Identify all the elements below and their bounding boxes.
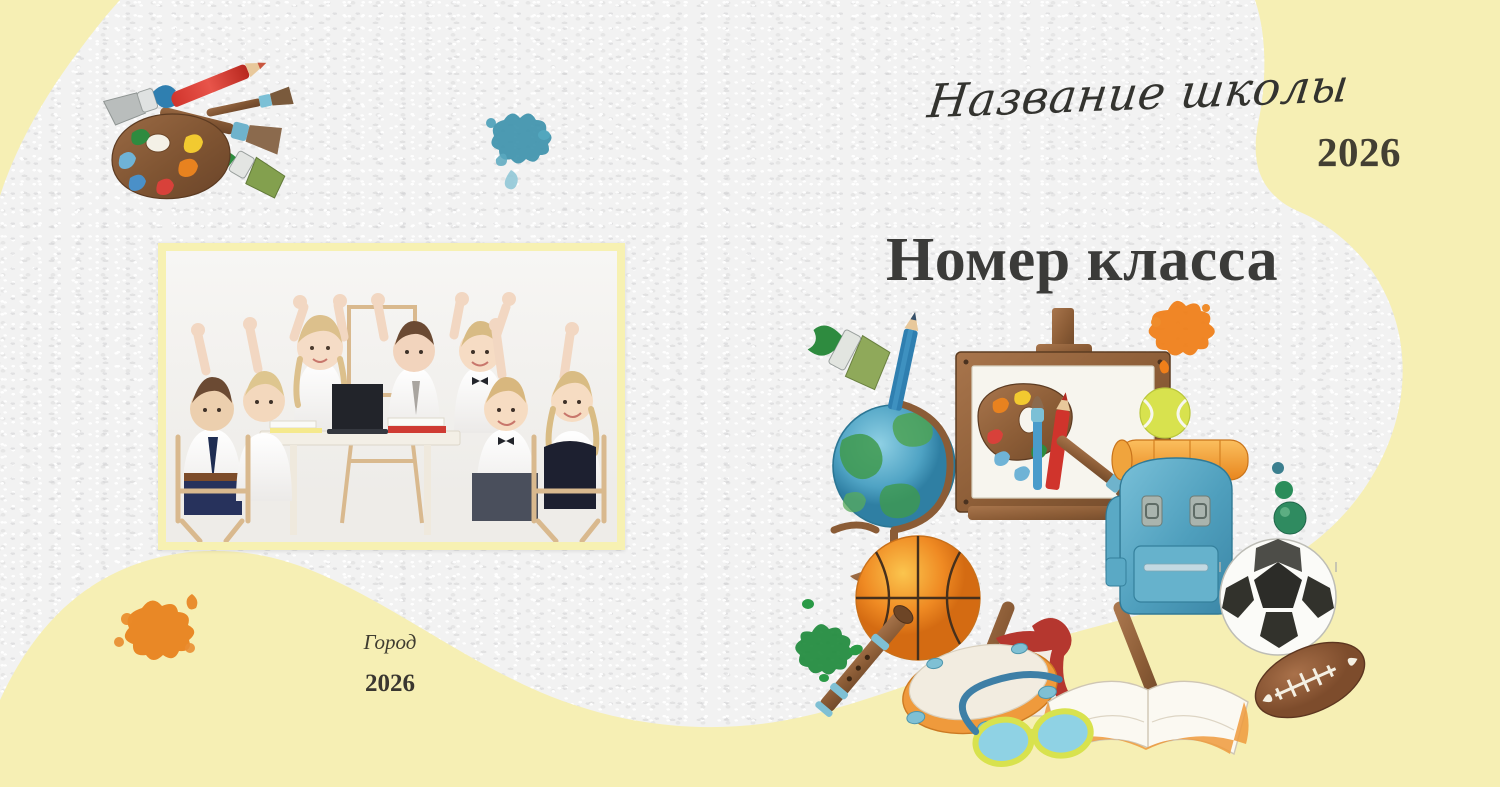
cover-canvas: Название школы 2026 Номер класса [0, 0, 1500, 787]
class-photo [166, 251, 617, 542]
blue-paint-splatter-icon [478, 106, 558, 196]
soccer-ball-icon [1220, 539, 1336, 655]
blue-pencil-icon [887, 311, 921, 412]
class-number-title[interactable]: Номер класса [886, 225, 1278, 296]
green-marbles-icon [1272, 462, 1306, 534]
year-top-label[interactable]: 2026 [1317, 128, 1401, 176]
tennis-ball-icon [1140, 388, 1190, 438]
paint-palette-cluster-illustration [96, 48, 306, 213]
school-supplies-collage-illustration [790, 290, 1350, 730]
class-photo-illustration [166, 251, 617, 542]
class-photo-frame[interactable] [158, 243, 625, 550]
school-name-title[interactable]: Название школы [925, 66, 1260, 125]
paint-tube-green-icon [801, 314, 894, 391]
palette-icon [112, 114, 230, 199]
year-bottom-label[interactable]: 2026 [310, 670, 470, 698]
city-label[interactable]: Город [310, 630, 470, 655]
orange-paint-splatter-icon [108, 592, 218, 682]
laptop-icon [327, 384, 388, 434]
paintbrush-small-icon [205, 86, 294, 122]
